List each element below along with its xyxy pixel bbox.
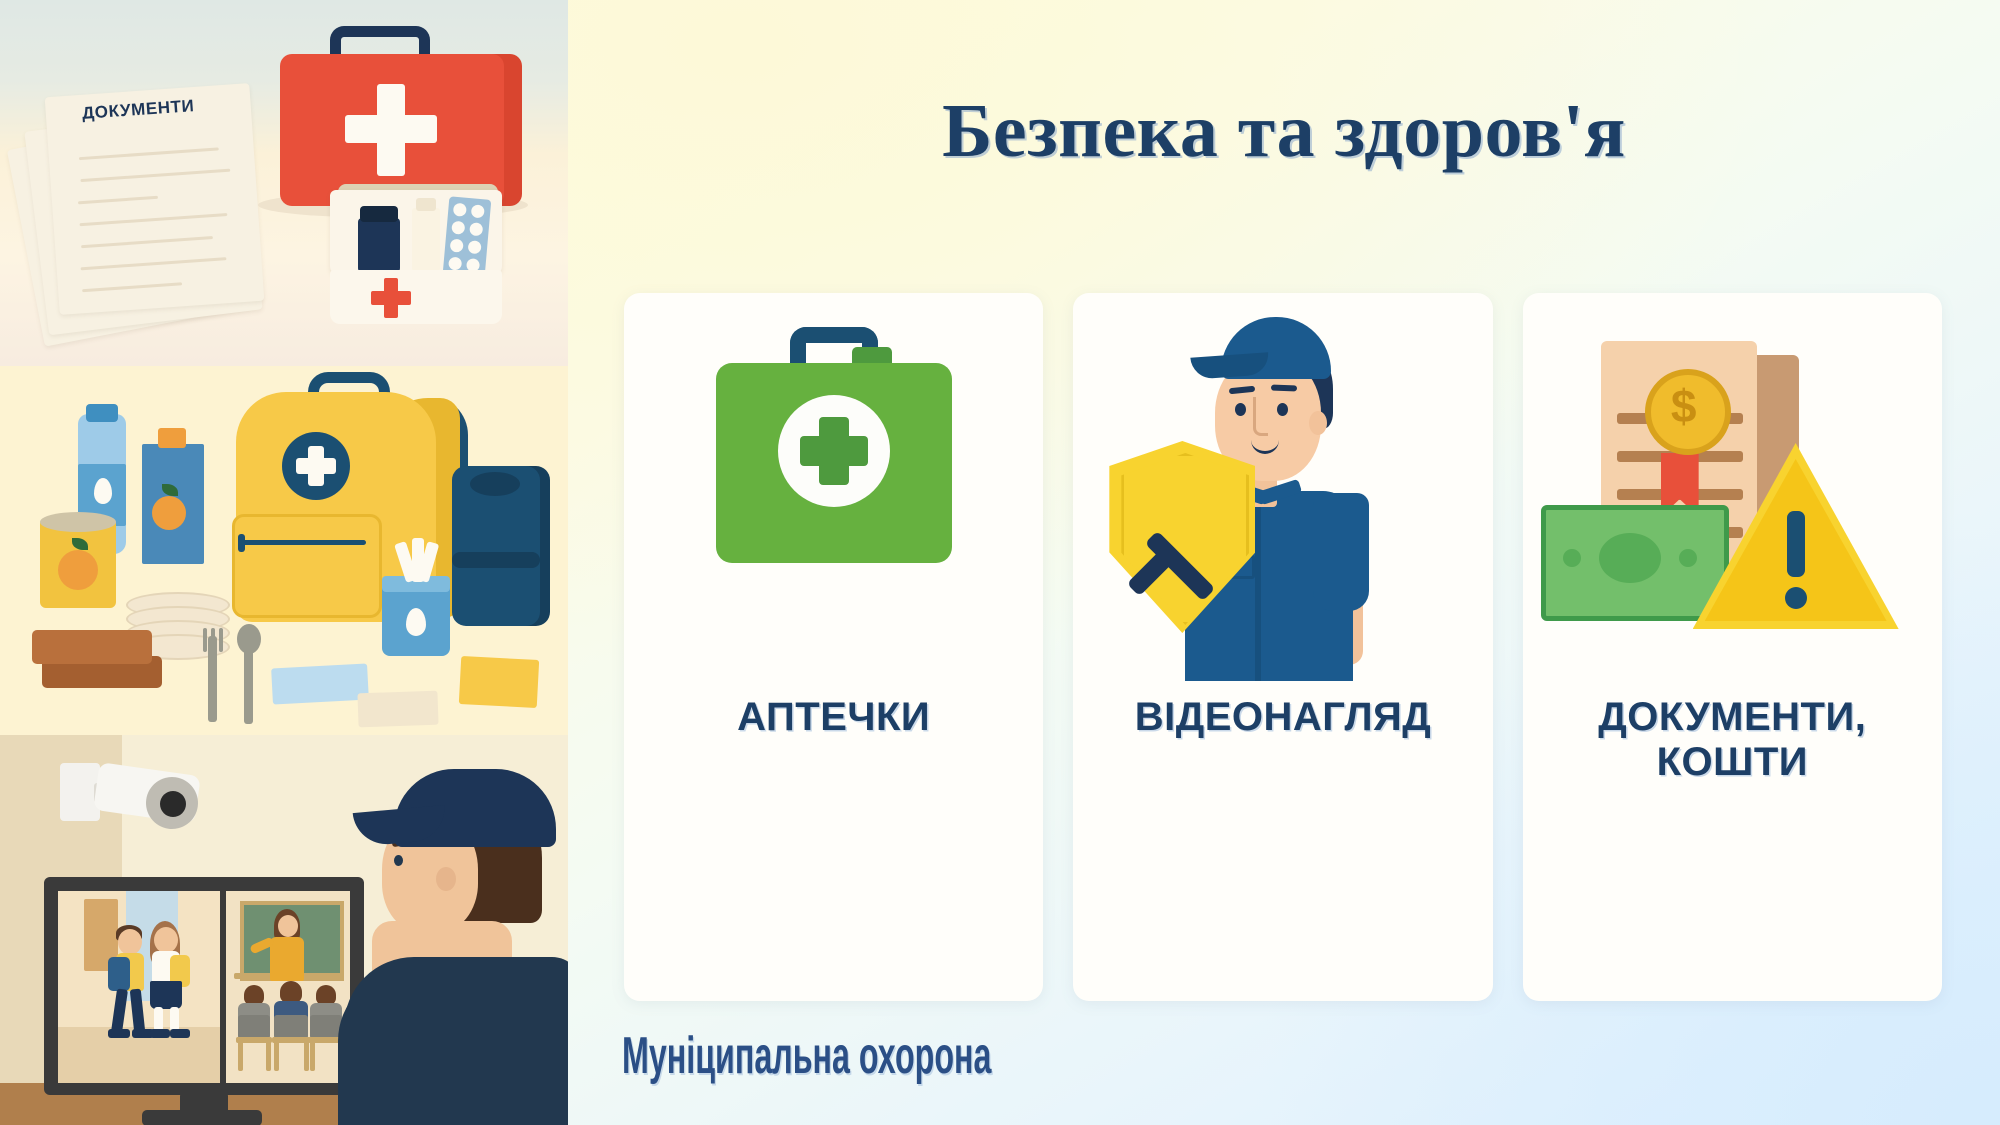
illustration-documents-and-first-aid-case: ДОКУМЕНТИ [0, 0, 568, 366]
card-documents-and-funds[interactable]: $ ДОКУМЕНТИ, КОШТИ [1523, 293, 1942, 1001]
card-first-aid-kits[interactable]: АПТЕЧКИ [624, 293, 1043, 1001]
card-label-line-1: ДОКУМЕНТИ, [1598, 695, 1866, 740]
card-label-documents-and-funds: ДОКУМЕНТИ, КОШТИ [1598, 695, 1866, 785]
footer-caption: Муніципальна охорона [622, 1026, 991, 1086]
card-label-line-2: КОШТИ [1598, 740, 1866, 785]
poster-canvas: ДОКУМЕНТИ [0, 0, 2000, 1125]
card-label-video-surveillance: ВІДЕОНАГЛЯД [1135, 695, 1432, 740]
page-title: Безпека та здоров'я [568, 88, 2000, 175]
coin-dollar-symbol: $ [1669, 383, 1699, 429]
illustration-cctv-monitoring-station [0, 735, 568, 1125]
illustration-emergency-go-bag-supplies [0, 366, 568, 735]
feature-cards: АПТЕЧКИ [624, 293, 1942, 1001]
card-video-surveillance[interactable]: ВІДЕОНАГЛЯД [1073, 293, 1492, 1001]
illustration-column: ДОКУМЕНТИ [0, 0, 568, 1125]
first-aid-kit-icon [624, 293, 1043, 683]
card-label-first-aid-kits: АПТЕЧКИ [737, 695, 930, 740]
security-guard-shield-icon [1073, 293, 1492, 683]
documents-money-warning-icon: $ [1523, 293, 1942, 683]
